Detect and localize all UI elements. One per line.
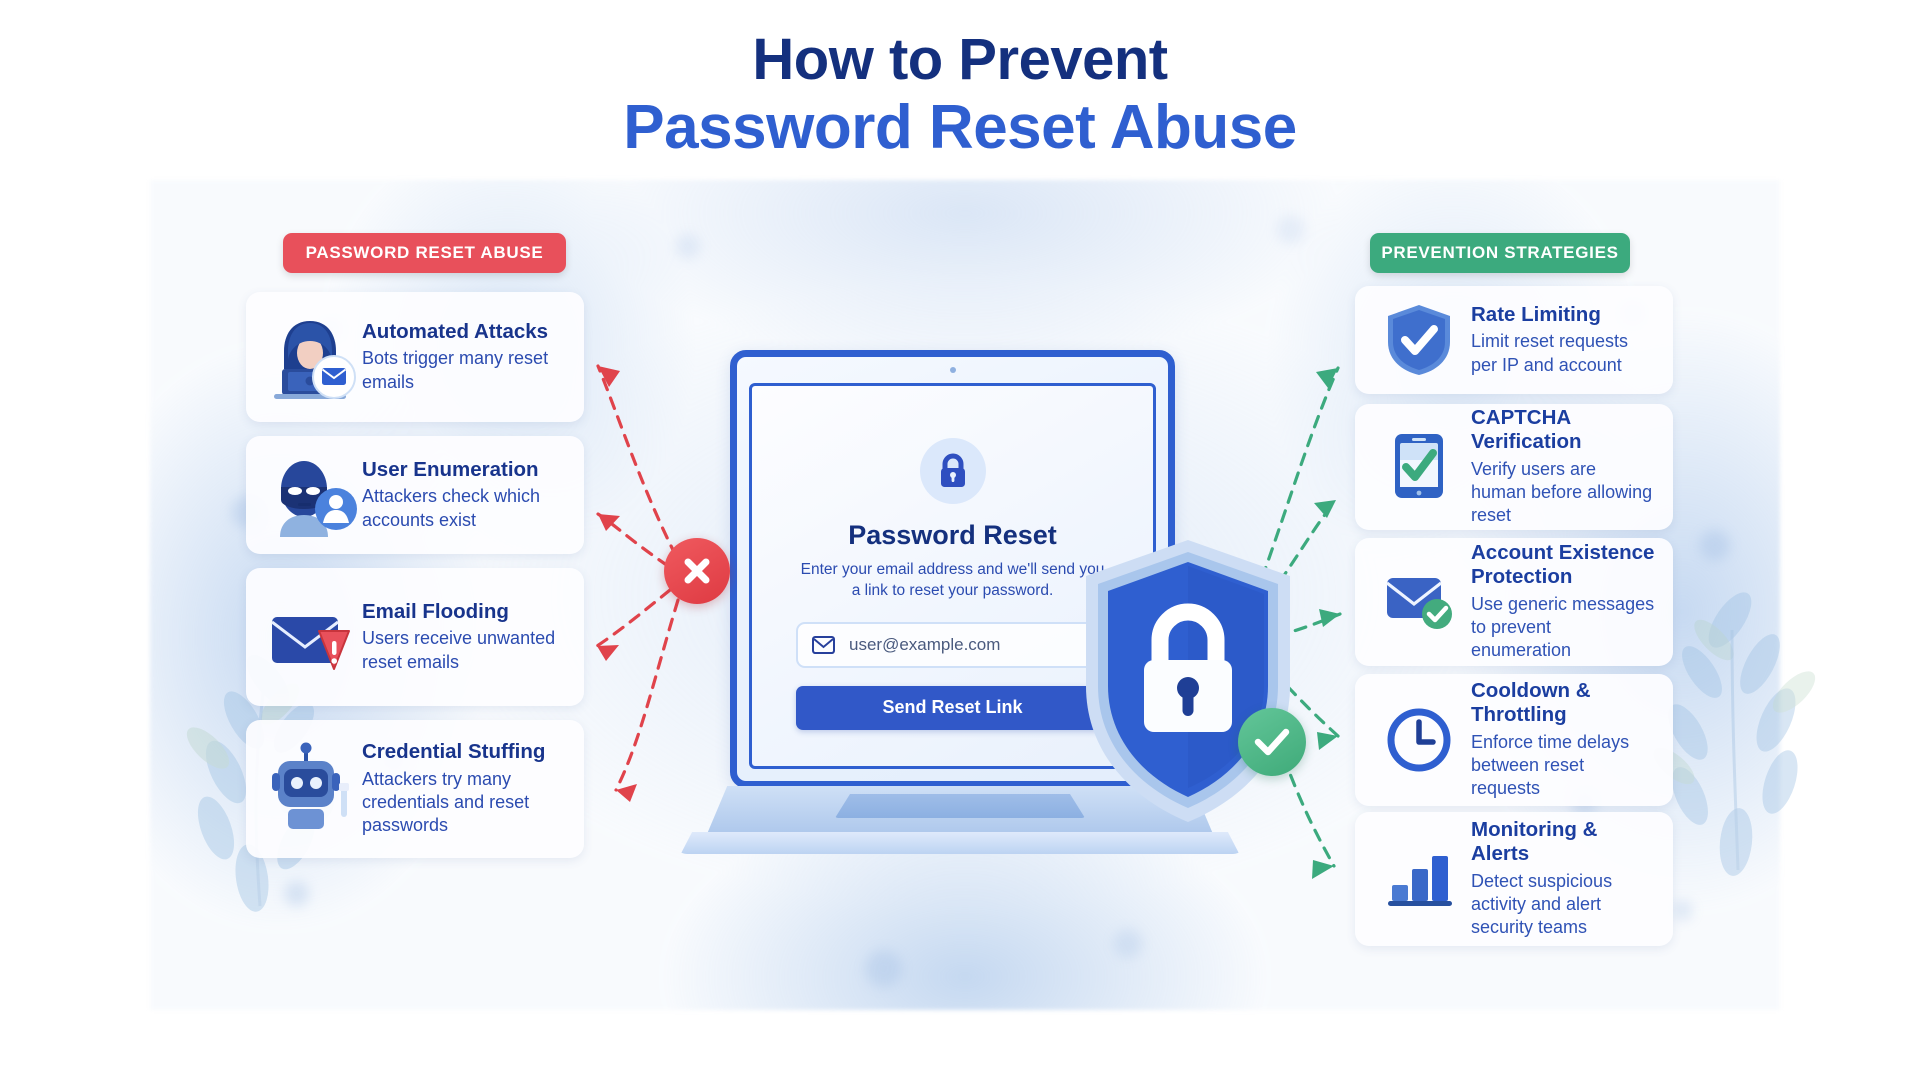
reset-form-subtitle: Enter your email address and we'll send … bbox=[796, 560, 1109, 602]
abuse-card-email-flooding[interactable]: Email Flooding Users receive unwanted re… bbox=[246, 568, 584, 706]
prevention-card-cooldown-throttling[interactable]: Cooldown & Throttling Enforce time delay… bbox=[1355, 674, 1673, 806]
laptop-trackpad bbox=[835, 794, 1085, 818]
abuse-card-credential-stuffing[interactable]: Credential Stuffing Attackers try many c… bbox=[246, 720, 584, 858]
shield-check-icon bbox=[1367, 286, 1471, 394]
card-title: Cooldown & Throttling bbox=[1471, 679, 1655, 727]
x-circle-icon bbox=[664, 538, 730, 604]
padlock-icon bbox=[920, 438, 986, 504]
card-title: Rate Limiting bbox=[1471, 303, 1655, 327]
email-input[interactable]: user@example.com bbox=[796, 622, 1109, 668]
card-description: Attackers check which accounts exist bbox=[362, 485, 566, 532]
hacker-hoodie-icon bbox=[258, 292, 362, 422]
email-input-value: user@example.com bbox=[849, 635, 1000, 655]
envelope-warning-icon bbox=[258, 568, 362, 706]
reset-form-title: Password Reset bbox=[796, 520, 1109, 551]
card-description: Bots trigger many reset emails bbox=[362, 347, 566, 394]
envelope-check-icon bbox=[1367, 538, 1471, 666]
page-title: How to Prevent Password Reset Abuse bbox=[0, 28, 1920, 162]
card-title: Automated Attacks bbox=[362, 320, 566, 344]
card-description: Users receive unwanted reset emails bbox=[362, 627, 566, 674]
card-description: Attackers try many credentials and reset… bbox=[362, 768, 566, 838]
prevention-card-captcha-verification[interactable]: CAPTCHA Verification Verify users are hu… bbox=[1355, 404, 1673, 530]
card-title: CAPTCHA Verification bbox=[1471, 406, 1655, 454]
bar-chart-icon bbox=[1367, 812, 1471, 946]
envelope-icon bbox=[812, 636, 835, 654]
abuse-card-automated-attacks[interactable]: Automated Attacks Bots trigger many rese… bbox=[246, 292, 584, 422]
shield-padlock-icon bbox=[1078, 536, 1298, 826]
card-description: Verify users are human before allowing r… bbox=[1471, 458, 1655, 528]
laptop-front-edge bbox=[675, 832, 1245, 854]
card-description: Use generic messages to prevent enumerat… bbox=[1471, 593, 1655, 663]
card-title: Credential Stuffing bbox=[362, 740, 566, 764]
card-description: Enforce time delays between reset reques… bbox=[1471, 731, 1655, 801]
prevention-card-account-existence-protection[interactable]: Account Existence Protection Use generic… bbox=[1355, 538, 1673, 666]
title-line-2: Password Reset Abuse bbox=[0, 93, 1920, 162]
prevention-card-rate-limiting[interactable]: Rate Limiting Limit reset requests per I… bbox=[1355, 286, 1673, 394]
clock-icon bbox=[1367, 674, 1471, 806]
send-reset-link-button[interactable]: Send Reset Link bbox=[796, 686, 1109, 730]
robot-icon bbox=[258, 720, 362, 858]
captcha-tablet-check-icon bbox=[1367, 404, 1471, 530]
check-circle-icon bbox=[1238, 708, 1306, 776]
prevention-card-monitoring-alerts[interactable]: Monitoring & Alerts Detect suspicious ac… bbox=[1355, 812, 1673, 946]
masked-thief-icon bbox=[258, 436, 362, 554]
card-title: Monitoring & Alerts bbox=[1471, 818, 1655, 866]
card-title: Email Flooding bbox=[362, 600, 566, 624]
section-label-prevention-strategies: PREVENTION STRATEGIES bbox=[1370, 233, 1630, 273]
laptop-camera bbox=[950, 367, 956, 373]
card-description: Limit reset requests per IP and account bbox=[1471, 330, 1655, 377]
title-line-1: How to Prevent bbox=[0, 28, 1920, 93]
card-title: User Enumeration bbox=[362, 458, 566, 482]
section-label-password-reset-abuse: PASSWORD RESET ABUSE bbox=[283, 233, 566, 273]
card-description: Detect suspicious activity and alert sec… bbox=[1471, 870, 1655, 940]
abuse-card-user-enumeration[interactable]: User Enumeration Attackers check which a… bbox=[246, 436, 584, 554]
card-title: Account Existence Protection bbox=[1471, 541, 1655, 589]
